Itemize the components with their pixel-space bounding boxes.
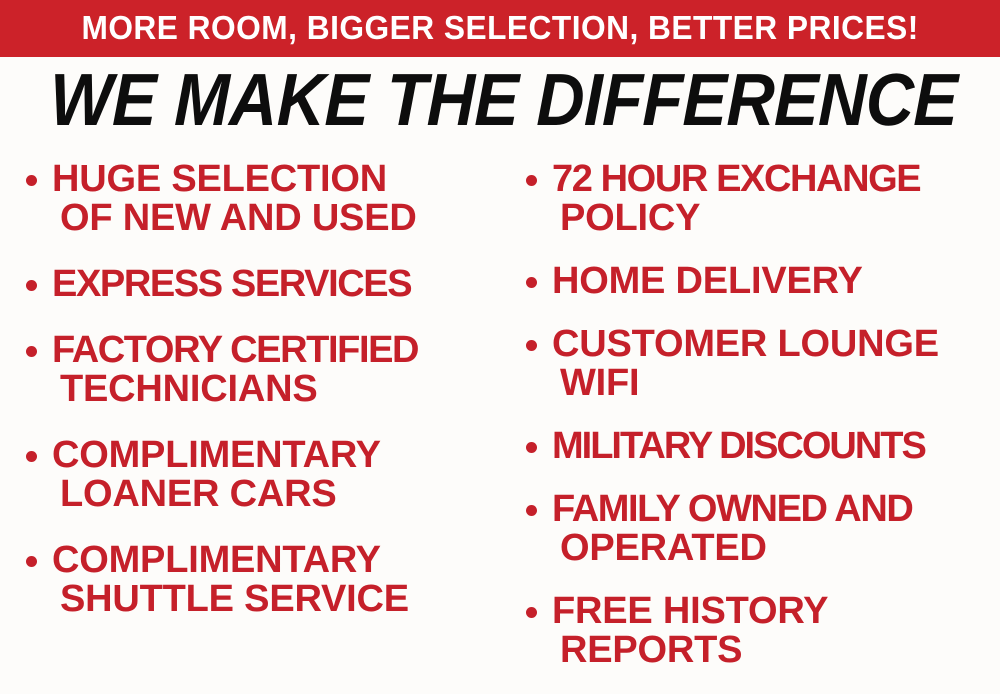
benefit-item-text: CUSTOMER LOUNGEWIFI bbox=[552, 325, 1000, 403]
benefit-item-text: FAMILY OWNED ANDOPERATED bbox=[552, 490, 1000, 568]
promotional-poster: MORE ROOM, BIGGER SELECTION, BETTER PRIC… bbox=[0, 0, 1000, 694]
benefit-item-complimentary: COMPLIMENTARYLOANER CARS bbox=[18, 436, 494, 514]
benefit-item-text: 72 HOUR EXCHANGEPOLICY bbox=[552, 160, 1000, 238]
bullet-point-icon bbox=[526, 505, 537, 516]
benefit-item-text: HUGE SELECTIONOF NEW AND USED bbox=[52, 160, 494, 238]
benefit-line: SHUTTLE SERVICE bbox=[52, 580, 494, 619]
benefit-item-customer-lounge: CUSTOMER LOUNGEWIFI bbox=[518, 325, 1000, 403]
benefit-item-text: HOME DELIVERY bbox=[552, 262, 1000, 301]
benefit-item-factory-certified: FACTORY CERTIFIEDTECHNICIANS bbox=[18, 331, 494, 409]
benefit-item-huge-selection: HUGE SELECTIONOF NEW AND USED bbox=[18, 160, 494, 238]
benefit-line: OF NEW AND USED bbox=[52, 199, 494, 238]
bullet-point-icon bbox=[526, 277, 537, 288]
benefit-item-express-services: EXPRESS SERVICES bbox=[18, 265, 494, 304]
benefit-item-72-hour-exchange: 72 HOUR EXCHANGEPOLICY bbox=[518, 160, 1000, 238]
bullet-point-icon bbox=[26, 451, 37, 462]
benefit-line: WIFI bbox=[552, 364, 1000, 403]
benefit-item-text: COMPLIMENTARYLOANER CARS bbox=[52, 436, 494, 514]
benefits-column-right: 72 HOUR EXCHANGEPOLICYHOME DELIVERYCUSTO… bbox=[518, 160, 1000, 670]
benefit-item-military-discounts: MILITARY DISCOUNTS bbox=[518, 427, 1000, 466]
benefit-line: HOME DELIVERY bbox=[552, 262, 1000, 301]
bullet-point-icon bbox=[26, 556, 37, 567]
benefit-item-text: FREE HISTORYREPORTS bbox=[552, 592, 1000, 670]
benefit-line: POLICY bbox=[552, 199, 1000, 238]
bullet-point-icon bbox=[526, 442, 537, 453]
benefit-item-free-history: FREE HISTORYREPORTS bbox=[518, 592, 1000, 670]
benefit-line: COMPLIMENTARY bbox=[52, 541, 494, 580]
banner-headline: MORE ROOM, BIGGER SELECTION, BETTER PRIC… bbox=[81, 11, 918, 46]
benefit-line: OPERATED bbox=[552, 529, 1000, 568]
benefit-line: 72 HOUR EXCHANGE bbox=[552, 160, 1000, 199]
benefit-line: TECHNICIANS bbox=[52, 370, 494, 409]
benefit-item-text: EXPRESS SERVICES bbox=[52, 265, 494, 304]
top-banner: MORE ROOM, BIGGER SELECTION, BETTER PRIC… bbox=[0, 0, 1000, 57]
bullet-point-icon bbox=[526, 175, 537, 186]
main-headline-text: WE MAKE THE DIFFERENCE bbox=[49, 63, 958, 137]
benefit-line: MILITARY DISCOUNTS bbox=[552, 427, 1000, 466]
benefit-item-home-delivery: HOME DELIVERY bbox=[518, 262, 1000, 301]
benefit-line: FAMILY OWNED AND bbox=[552, 490, 1000, 529]
main-headline: WE MAKE THE DIFFERENCE bbox=[0, 63, 1000, 137]
benefit-item-family-owned-and: FAMILY OWNED ANDOPERATED bbox=[518, 490, 1000, 568]
benefit-line: FREE HISTORY bbox=[552, 592, 1000, 631]
bullet-point-icon bbox=[26, 280, 37, 291]
bullet-point-icon bbox=[26, 346, 37, 357]
bullet-point-icon bbox=[526, 607, 537, 618]
benefit-item-text: MILITARY DISCOUNTS bbox=[552, 427, 1000, 466]
benefit-item-text: COMPLIMENTARYSHUTTLE SERVICE bbox=[52, 541, 494, 619]
benefit-line: HUGE SELECTION bbox=[52, 160, 494, 199]
benefit-line: EXPRESS SERVICES bbox=[52, 265, 494, 304]
bullet-point-icon bbox=[526, 340, 537, 351]
bullet-point-icon bbox=[26, 175, 37, 186]
benefit-line: CUSTOMER LOUNGE bbox=[552, 325, 1000, 364]
benefit-item-text: FACTORY CERTIFIEDTECHNICIANS bbox=[52, 331, 494, 409]
benefit-line: LOANER CARS bbox=[52, 475, 494, 514]
benefit-line: COMPLIMENTARY bbox=[52, 436, 494, 475]
benefit-item-complimentary: COMPLIMENTARYSHUTTLE SERVICE bbox=[18, 541, 494, 619]
benefit-line: REPORTS bbox=[552, 631, 1000, 670]
benefits-column-left: HUGE SELECTIONOF NEW AND USEDEXPRESS SER… bbox=[18, 160, 494, 619]
benefit-line: FACTORY CERTIFIED bbox=[52, 331, 494, 370]
